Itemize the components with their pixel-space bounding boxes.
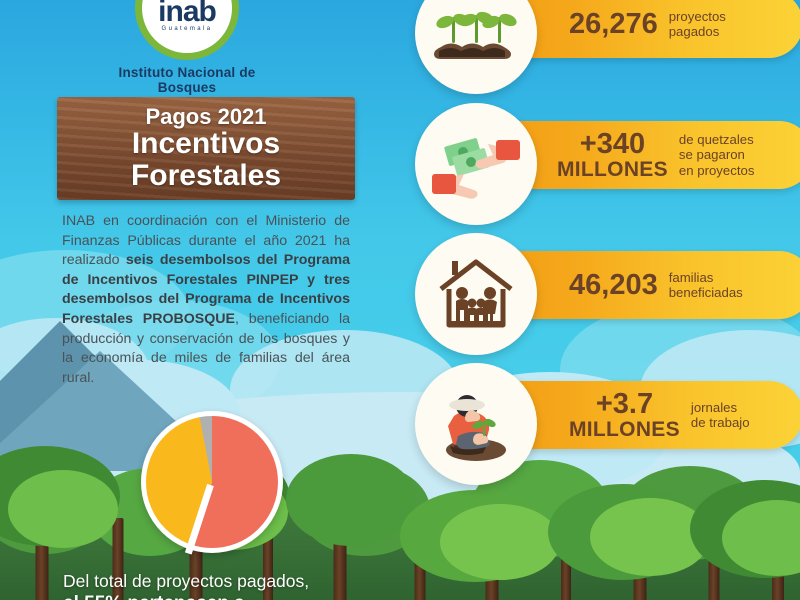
logo-wordmark: inab [158, 0, 216, 25]
stat-label: de quetzales se pagaron en proyectos [679, 132, 755, 178]
stat-number-unit: MILLONES [557, 159, 668, 180]
logo-wordmark-sub: Guatemala [162, 26, 213, 32]
stat-number: 46,203 [569, 271, 658, 300]
house-family-icon [436, 257, 516, 331]
banner-line-3: Forestales [131, 160, 281, 192]
stat-icon-disc [415, 363, 537, 485]
stat-number: 26,276 [569, 10, 658, 39]
stat-label: familias beneficiadas [669, 270, 743, 300]
stat-number: +340 MILLONES [557, 130, 668, 180]
logo-disc: inab Guatemala [135, 0, 239, 60]
intro-paragraph: INAB en coordinación con el Ministerio d… [62, 212, 350, 388]
stat-icon-disc [415, 103, 537, 225]
stat-number-value: +3.7 [596, 388, 653, 420]
caption-line-2: el 55% pertenecen a [63, 592, 403, 600]
banner-line-1: Pagos 2021 [145, 105, 266, 128]
stat-number-value: +340 [580, 128, 645, 160]
stat-label: jornales de trabajo [691, 400, 750, 430]
pie-chart [141, 411, 283, 553]
stat-icon-disc [415, 0, 537, 94]
title-banner: Pagos 2021 Incentivos Forestales [57, 97, 355, 200]
planting-person-icon [436, 384, 516, 464]
tree-canopy [286, 454, 416, 546]
hands-money-icon [430, 128, 522, 200]
pie-chart-disc [141, 411, 283, 553]
seedlings-icon [433, 3, 519, 63]
bottom-caption: Del total de proyectos pagados, el 55% p… [63, 570, 403, 600]
stat-number: +3.7 MILLONES [569, 390, 680, 440]
stat-number-unit: MILLONES [569, 419, 680, 440]
tree-canopy [440, 504, 560, 580]
stat-icon-disc [415, 233, 537, 355]
banner-line-2: Incentivos [132, 128, 280, 160]
tree-canopy [8, 470, 118, 548]
stat-label: proyectos pagados [669, 9, 726, 39]
infographic-canvas: inab Guatemala Instituto Nacional de Bos… [0, 0, 800, 600]
inab-logo: inab Guatemala Instituto Nacional de Bos… [92, 0, 282, 108]
organization-name: Instituto Nacional de Bosques [92, 65, 282, 95]
caption-line-1: Del total de proyectos pagados, [63, 570, 403, 592]
